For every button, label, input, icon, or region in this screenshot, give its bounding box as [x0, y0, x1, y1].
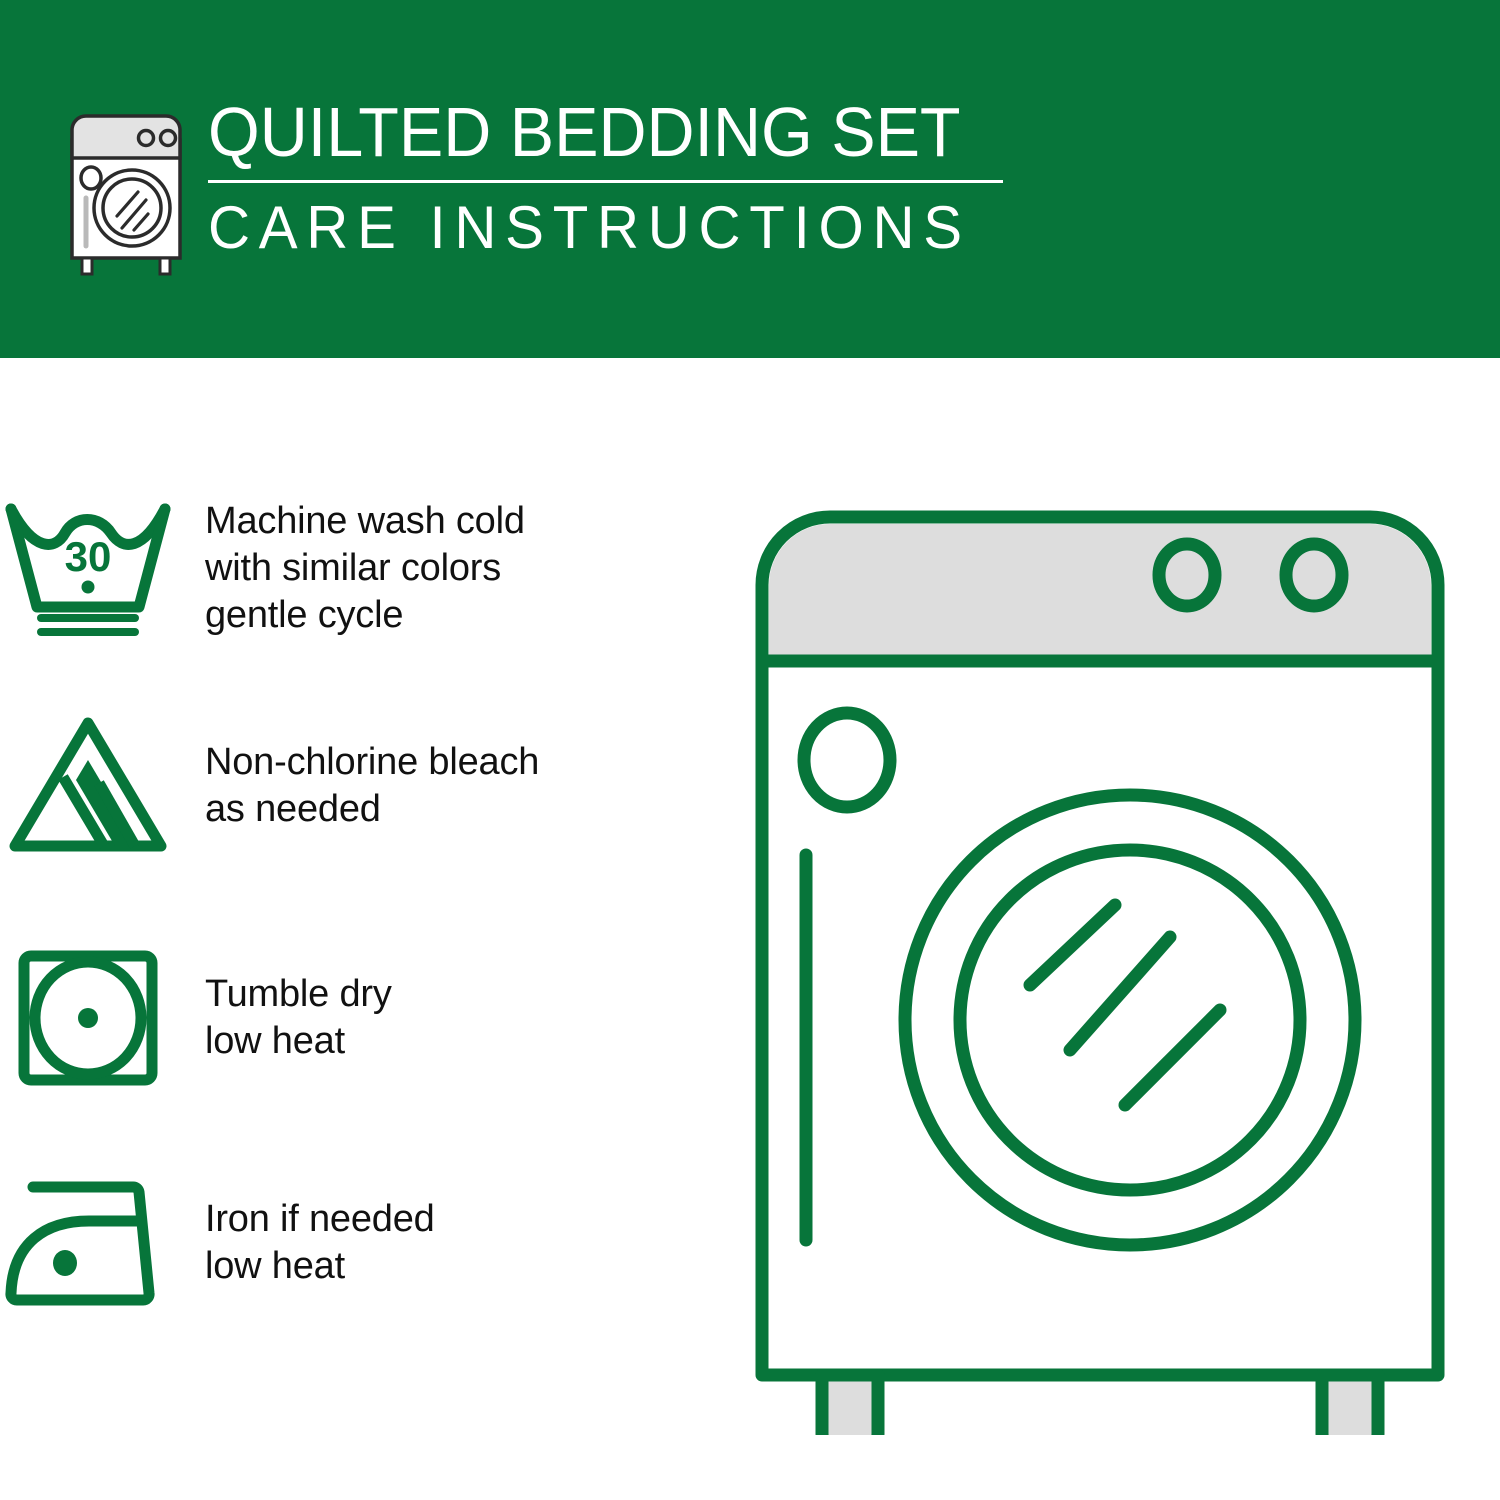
care-label-line: low heat: [205, 1018, 720, 1065]
care-label-wash: Machine wash cold with similar colors ge…: [205, 498, 720, 639]
header-title-block: QUILTED BEDDING SET CARE INSTRUCTIONS: [208, 92, 1003, 263]
care-symbol-wash: 30: [0, 499, 175, 639]
care-label-line: low heat: [205, 1243, 720, 1290]
header-content: QUILTED BEDDING SET CARE INSTRUCTIONS: [62, 92, 1003, 279]
page-title: QUILTED BEDDING SET: [208, 92, 963, 172]
care-label-line: as needed: [205, 786, 720, 833]
header-band: QUILTED BEDDING SET CARE INSTRUCTIONS: [0, 0, 1500, 358]
knob-right[interactable]: [1286, 544, 1342, 606]
care-symbol-tumble-dry: [0, 948, 175, 1088]
non-chlorine-bleach-triangle-icon: [3, 713, 173, 858]
care-label-line: Tumble dry: [205, 971, 720, 1018]
tumble-dry-low-icon: [3, 948, 173, 1088]
leg-left: [822, 1375, 878, 1435]
page-subtitle: CARE INSTRUCTIONS: [208, 193, 979, 263]
care-row-iron: Iron if needed low heat: [0, 1173, 720, 1313]
care-label-line: Iron if needed: [205, 1196, 720, 1243]
care-label-line: Non-chlorine bleach: [205, 739, 720, 786]
washing-machine-icon: [62, 104, 190, 279]
care-label-line: with similar colors: [205, 545, 720, 592]
care-label-bleach: Non-chlorine bleach as needed: [205, 739, 720, 833]
care-row-bleach: Non-chlorine bleach as needed: [0, 713, 720, 858]
detergent-dispenser-button[interactable]: [804, 713, 890, 807]
iron-low-heat-icon: [3, 1173, 173, 1313]
leg-right: [1322, 1375, 1378, 1435]
care-row-wash: 30 Machine wash cold with similar colors…: [0, 498, 720, 639]
wash-tub-30-gentle-icon: 30: [3, 499, 173, 639]
front-load-washing-machine-illustration: [740, 495, 1460, 1435]
care-symbol-iron: [0, 1173, 175, 1313]
care-symbol-bleach: [0, 713, 175, 858]
knob-left[interactable]: [1159, 544, 1215, 606]
care-label-line: gentle cycle: [205, 592, 720, 639]
care-row-tumble-dry: Tumble dry low heat: [0, 948, 720, 1088]
title-divider: [208, 180, 1003, 183]
door-inner-ring[interactable]: [960, 850, 1300, 1190]
care-instructions-page: QUILTED BEDDING SET CARE INSTRUCTIONS 30: [0, 0, 1500, 1500]
wash-temperature-value: 30: [64, 533, 111, 580]
care-instruction-list: 30 Machine wash cold with similar colors…: [0, 358, 720, 1500]
care-label-iron: Iron if needed low heat: [205, 1196, 720, 1290]
care-label-line: Machine wash cold: [205, 498, 720, 545]
care-label-tumble-dry: Tumble dry low heat: [205, 971, 720, 1065]
